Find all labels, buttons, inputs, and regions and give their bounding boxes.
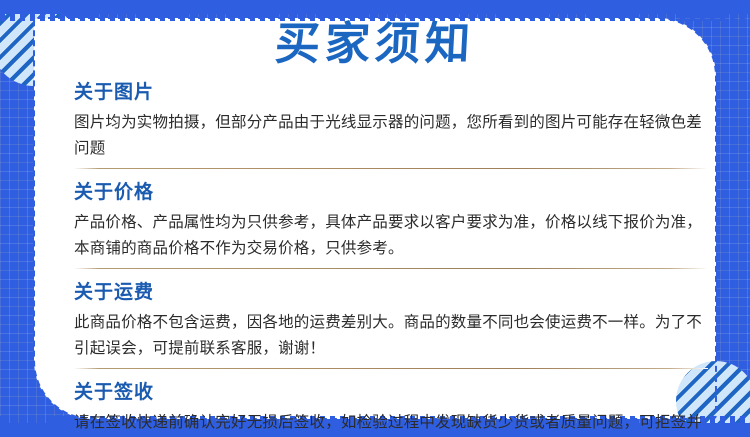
notice-section-price: 关于价格 产品价格、产品属性均为只供参考，具体产品要求以客户要求为准，价格以线下… xyxy=(74,180,708,280)
top-blue-band xyxy=(0,0,750,14)
section-body-price: 产品价格、产品属性均为只供参考，具体产品要求以客户要求为准，价格以线下报价为准，… xyxy=(74,209,708,262)
section-heading-price: 关于价格 xyxy=(74,180,708,206)
page-title: 买家须知 xyxy=(274,20,476,67)
section-body-images: 图片均为实物拍摄，但部分产品由于光线显示器的问题，您所看到的图片可能存在轻微色差… xyxy=(74,109,708,162)
notice-section-receipt: 关于签收 请在签收快递前确认完好无损后签收，如检验过程中发现缺货少货或者质量问题… xyxy=(74,380,708,437)
notice-sections: 关于图片 图片均为实物拍摄，但部分产品由于光线显示器的问题，您所看到的图片可能存… xyxy=(74,80,708,437)
section-heading-images: 关于图片 xyxy=(74,80,708,106)
section-divider-3 xyxy=(74,368,708,369)
section-heading-shipping: 关于运费 xyxy=(74,280,708,306)
section-divider-2 xyxy=(74,268,708,269)
banner-title-row: 买家须知 xyxy=(0,20,750,67)
section-heading-receipt: 关于签收 xyxy=(74,380,708,406)
notice-section-images: 关于图片 图片均为实物拍摄，但部分产品由于光线显示器的问题，您所看到的图片可能存… xyxy=(74,80,708,180)
notice-section-shipping: 关于运费 此商品价格不包含运费，因各地的运费差别大。商品的数量不同也会使运费不一… xyxy=(74,280,708,380)
section-divider-1 xyxy=(74,168,708,169)
section-body-receipt: 请在签收快递前确认完好无损后签收，如检验过程中发现缺货少货或者质量问题，可拒签并… xyxy=(74,409,708,437)
section-body-shipping: 此商品价格不包含运费，因各地的运费差别大。商品的数量不同也会使运费不一样。为了不… xyxy=(74,309,708,362)
buyer-notice-banner: 买家须知 关于图片 图片均为实物拍摄，但部分产品由于光线显示器的问题，您所看到的… xyxy=(0,0,750,437)
